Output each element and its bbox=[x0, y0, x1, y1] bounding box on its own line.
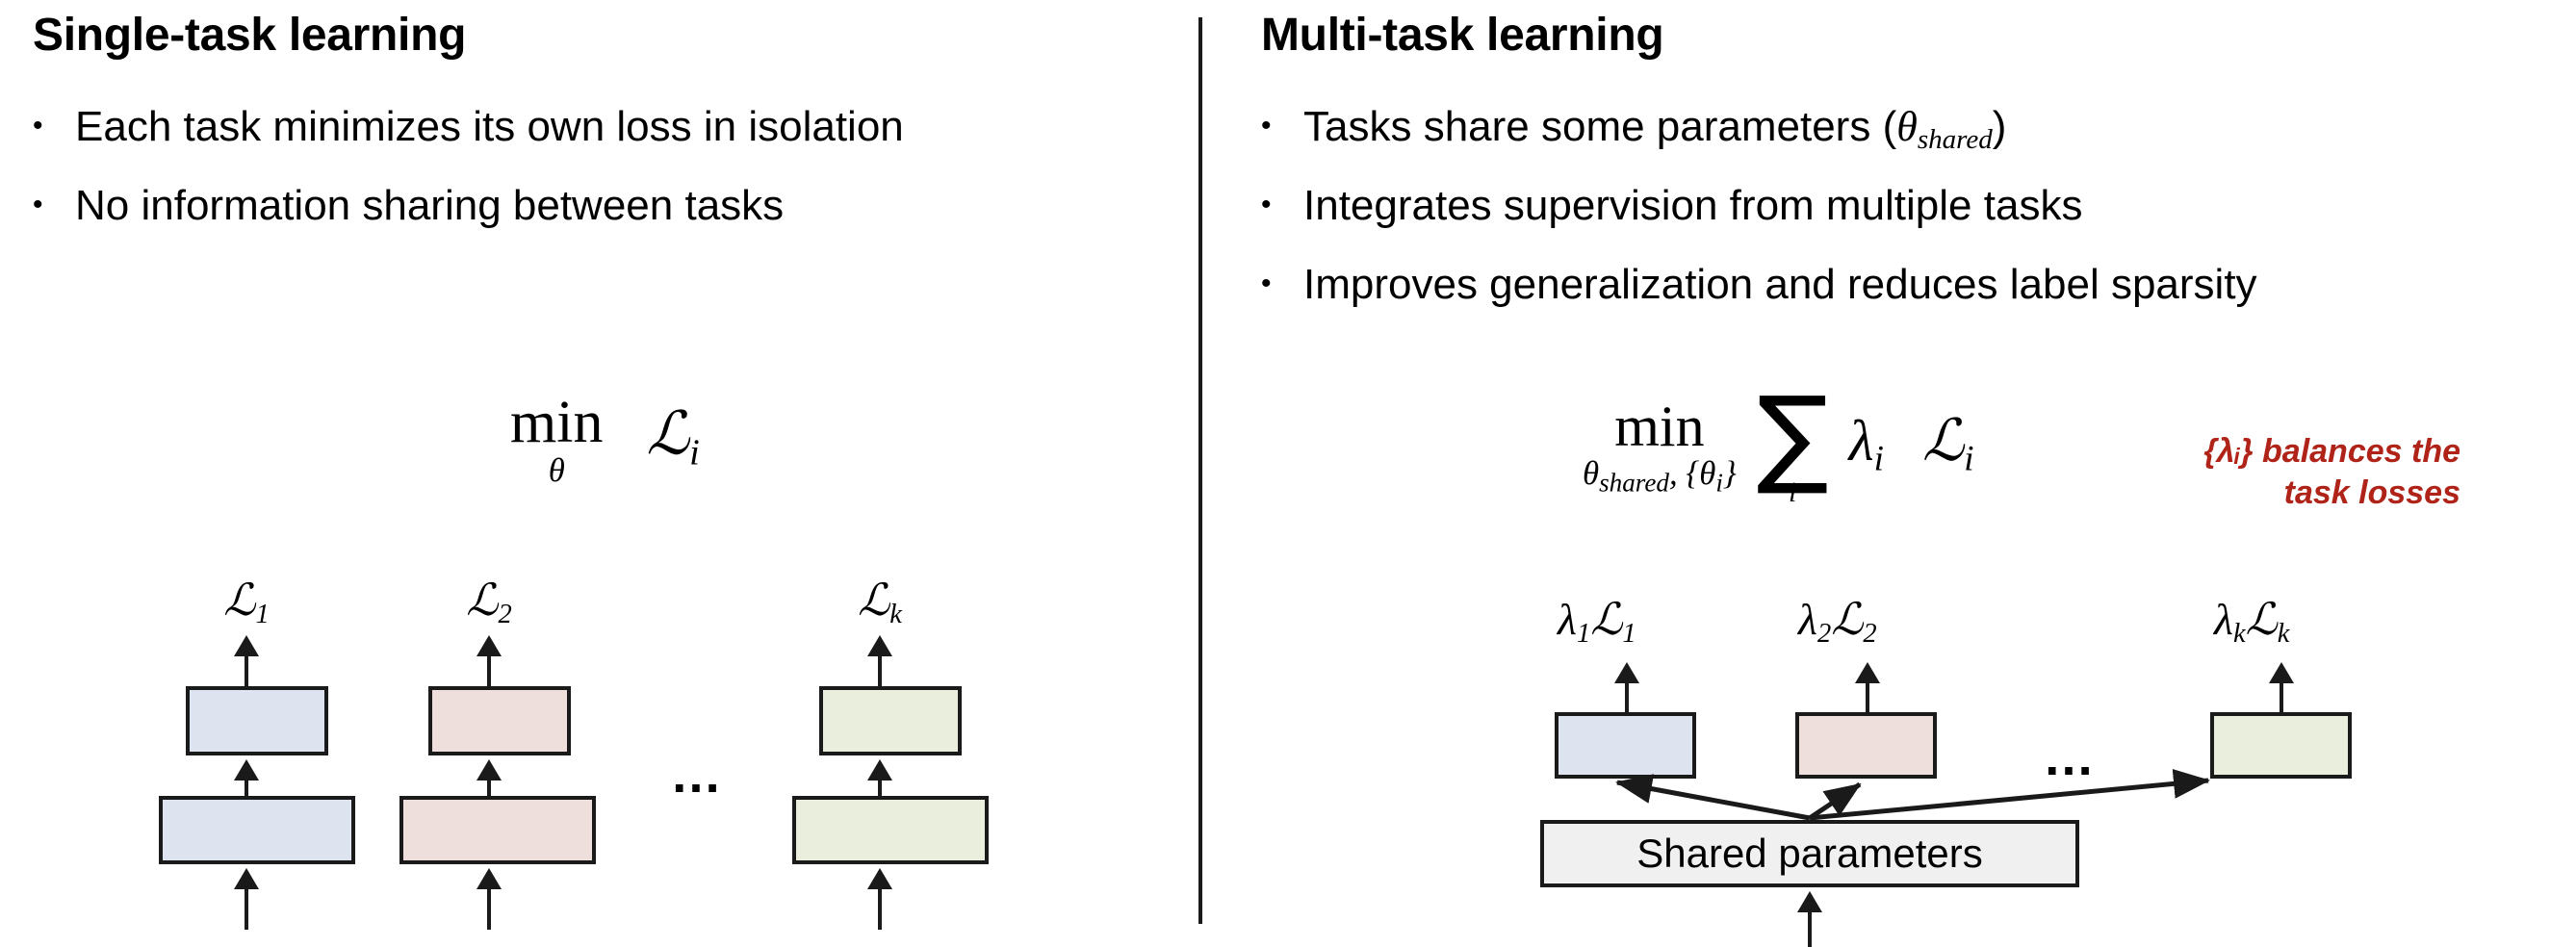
bullet-marker-icon: • bbox=[33, 191, 75, 219]
right-bullet-2: • Integrates supervision from multiple t… bbox=[1261, 183, 2082, 229]
right-bullet-3-text: Improves generalization and reduces labe… bbox=[1303, 262, 2257, 308]
slide-canvas: Single-task learning • Each task minimiz… bbox=[0, 0, 2576, 947]
bullet-marker-icon: • bbox=[33, 112, 75, 141]
shared-parameters-label: Shared parameters bbox=[1636, 831, 1983, 877]
left-bullet-1-text: Each task minimizes its own loss in isol… bbox=[75, 104, 904, 150]
arrow-shaft-out-1 bbox=[245, 651, 248, 691]
right-panel-title: Multi-task learning bbox=[1261, 12, 1663, 60]
right-bullet-1-text-post: ) bbox=[1993, 103, 2007, 150]
bullet-marker-icon: • bbox=[1261, 112, 1303, 141]
shared-input-shaft bbox=[1808, 907, 1812, 947]
theta-subscript: shared bbox=[1918, 124, 1993, 155]
bullet-marker-icon: • bbox=[1261, 269, 1303, 298]
loss-subscript: i bbox=[689, 432, 700, 473]
left-taskk-trunk-box bbox=[792, 796, 989, 864]
min-operator: min θ bbox=[510, 393, 603, 488]
arrow-shaft-mid-1 bbox=[245, 775, 248, 798]
bullet-marker-icon: • bbox=[1261, 191, 1303, 219]
r-arrow-shaft-out-2 bbox=[1866, 678, 1869, 714]
right-bullet-3: • Improves generalization and reduces la… bbox=[1261, 262, 2257, 308]
left-panel-title: Single-task learning bbox=[33, 12, 466, 60]
left-taskk-head-box bbox=[819, 686, 962, 755]
right-loss-label-k: λkℒk bbox=[2214, 593, 2387, 650]
left-task1-trunk-box bbox=[159, 796, 355, 864]
min-operator: min θshared, {θi} bbox=[1583, 397, 1737, 497]
panel-divider bbox=[1198, 17, 1202, 924]
arrow-shaft-out-k bbox=[878, 651, 882, 691]
loss-symbol: ℒ bbox=[646, 402, 689, 468]
right-loss-label-1: λ1ℒ1 bbox=[1558, 593, 1731, 650]
left-loss-label-1: ℒ1 bbox=[189, 574, 304, 630]
summation-operator: ∑ i bbox=[1757, 389, 1829, 505]
r-arrow-shaft-out-1 bbox=[1625, 678, 1629, 714]
lambda-note: {λᵢ} balances the task losses bbox=[2124, 431, 2460, 513]
min-limits: θshared, {θi} bbox=[1583, 457, 1737, 497]
theta-symbol: θ bbox=[1896, 103, 1918, 150]
left-task1-head-box bbox=[186, 686, 328, 755]
r-arrow-shaft-out-k bbox=[2280, 678, 2283, 714]
lambda-note-line-1: {λᵢ} balances the bbox=[2124, 431, 2460, 473]
left-diagram-ellipsis: … bbox=[670, 749, 726, 801]
left-task2-head-box bbox=[428, 686, 571, 755]
left-objective-formula: min θ ℒi bbox=[510, 393, 700, 488]
right-bullet-1: • Tasks share some parameters (θshared) bbox=[1261, 104, 2006, 156]
right-task1-box bbox=[1555, 712, 1696, 779]
lambda-symbol: λ bbox=[1849, 409, 1874, 473]
right-bullet-2-text: Integrates supervision from multiple tas… bbox=[1303, 183, 2082, 229]
left-task2-trunk-box bbox=[399, 796, 596, 864]
right-objective-formula: min θshared, {θi} ∑ i λi ℒi bbox=[1583, 389, 1974, 505]
arrow-shaft-in-1 bbox=[245, 883, 248, 930]
lambda-note-line-2: task losses bbox=[2124, 473, 2460, 514]
left-bullet-2-text: No information sharing between tasks bbox=[75, 183, 784, 229]
loss-subscript: i bbox=[1964, 440, 1973, 479]
arrow-shaft-out-2 bbox=[487, 651, 491, 691]
right-taskk-box bbox=[2210, 712, 2352, 779]
right-task2-box bbox=[1795, 712, 1937, 779]
left-bullet-2: • No information sharing between tasks bbox=[33, 183, 784, 229]
arrow-shaft-mid-k bbox=[878, 775, 882, 798]
arrow-shaft-in-2 bbox=[487, 883, 491, 930]
right-bullet-1-text-pre: Tasks share some parameters ( bbox=[1303, 103, 1896, 150]
loss-symbol: ℒ bbox=[1922, 409, 1964, 473]
left-loss-label-k: ℒk bbox=[822, 574, 938, 630]
arrow-shaft-in-k bbox=[878, 883, 882, 930]
left-bullet-1: • Each task minimizes its own loss in is… bbox=[33, 104, 904, 150]
left-loss-label-2: ℒ2 bbox=[431, 574, 547, 630]
shared-parameters-box: Shared parameters bbox=[1540, 820, 2079, 887]
right-bullet-1-text: Tasks share some parameters (θshared) bbox=[1303, 104, 2006, 156]
arrow-shaft-mid-2 bbox=[487, 775, 491, 798]
right-diagram-ellipsis: … bbox=[2043, 731, 2099, 783]
right-loss-label-2: λ2ℒ2 bbox=[1798, 593, 1971, 650]
lambda-subscript: i bbox=[1874, 440, 1884, 479]
